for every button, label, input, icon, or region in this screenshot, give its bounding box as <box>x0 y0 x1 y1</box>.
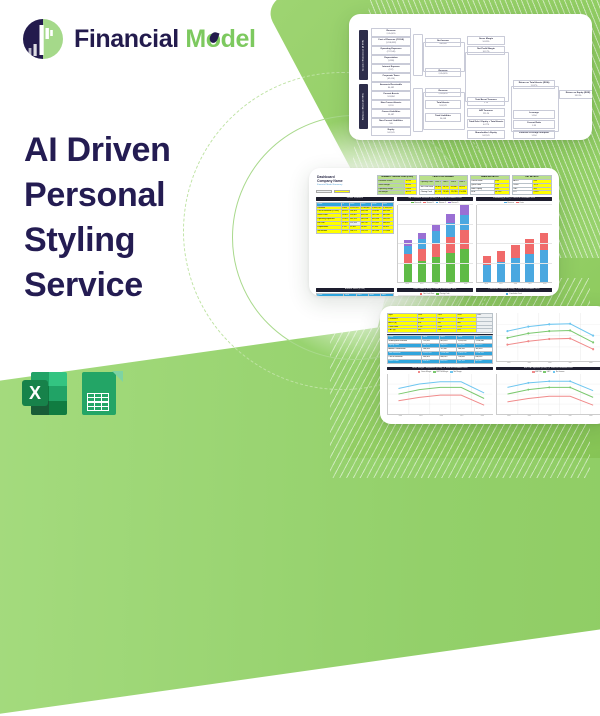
summary-table-2: FINANCIAL RATIOS Current Ratio1.83 Quick… <box>470 175 510 195</box>
assumptions-table: Input 2024 2025 2026 2027 Customers12,40… <box>387 313 493 333</box>
dashboard-header-row: Dashboard Company Name Financial Model S… <box>316 175 552 195</box>
circular-chart-logo-icon <box>22 18 64 60</box>
band-balance-sheet: Balance Sheet ($ 000) <box>359 84 368 129</box>
node-result-roe: Return on Equity (ROE)18.13% <box>559 90 592 99</box>
brand-wordmark: Financial M o del <box>74 25 256 54</box>
node-income-0: Revenue2,414,455 <box>371 28 411 37</box>
table-row: Gross Profit520,807628,233743,705865,862 <box>388 359 493 363</box>
node-balance-0: Accounts Receivable80,482 <box>371 82 411 91</box>
node-income-3: Depreciation(1,386) <box>371 55 411 64</box>
summary-table-0: SUMMARY - ASSUMPTIONS ($ 000) Revenue Gr… <box>377 175 417 195</box>
balance-sheet-table: $ 000 2024 2025 2026 2027 Assets Cash42,… <box>316 293 394 296</box>
revenue-breakdown-title: Top 5 Revenue Streams ($ 000) | 5 Years … <box>397 197 473 200</box>
excel-badge-label: X <box>22 380 48 406</box>
dashboard-toggle-2[interactable] <box>334 190 350 193</box>
bar-group <box>418 233 427 283</box>
bar-group <box>460 205 469 283</box>
dashboard-card[interactable]: Dashboard Company Name Financial Model S… <box>309 168 559 296</box>
revenue-trend-xticks: 2024 2025 2026 2027 2028 <box>496 363 600 364</box>
dupont-tree: Income Statement ($ 000) Balance Sheet (… <box>357 24 584 130</box>
headline-line-3: Styling <box>24 218 171 263</box>
margin-analysis-title: Gross Margin Comparison ($ 000) | 5 Year… <box>387 367 493 370</box>
node-ratio-4: Total Debt / Equity + Total Assets0.0774 <box>467 119 505 128</box>
bar-group <box>404 240 413 282</box>
brand-name-part2: M <box>185 25 205 54</box>
ebitda-trend-plot <box>496 374 600 415</box>
revenue-breakdown-plot <box>397 205 473 284</box>
balance-sheet-header: Balance Sheet ($ 000) <box>316 288 394 291</box>
page-title: AI Driven Personal Styling Service <box>24 128 171 308</box>
table-row: CAC ($)265258251 <box>388 329 493 333</box>
profitability-title: Profitability ($ 000) | 5 Years to Decem… <box>476 197 552 200</box>
profitability-plot <box>476 205 552 284</box>
financials-tables-cell: Input 2024 2025 2026 2027 Customers12,40… <box>387 313 493 364</box>
margin-analysis-legend: Gross Margin EBITDA Margin Net Margin <box>387 371 493 373</box>
summary-table-1: CASH FLOW SUMMARY Opening CashYear 1Year… <box>419 175 467 195</box>
node-balance-4: Non-Current Liabilities520 <box>371 118 411 127</box>
summary-table-3: KEY METRICS ARPU418 Churn3.1% CAC265 LTV… <box>512 175 552 195</box>
dashboard-subtitle: Financial Model Summary <box>316 184 374 186</box>
bar-group <box>432 224 441 283</box>
brand-name-part3: del <box>221 25 256 54</box>
income-statement-table: $ 000 % 2024 2025 2026 2027 Revenue100%1… <box>316 202 394 234</box>
income-statement-panel: Income Statement $ 000 % 2024 2025 2026 … <box>316 197 394 285</box>
bar-group <box>497 251 506 282</box>
bar-group <box>511 245 520 282</box>
profitability-panel: Profitability ($ 000) | 5 Years to Decem… <box>476 197 552 285</box>
revenue-trend-cell: 2024 2025 2026 2027 2028 <box>496 313 600 364</box>
excel-icon[interactable]: X <box>22 371 67 416</box>
connector-box-income <box>413 34 423 76</box>
revenue-breakdown-xticks: 2024 2025 2026 2027 2028 <box>397 284 473 285</box>
band-income-statement: Income Statement ($ 000) <box>359 30 368 80</box>
node-income-1: Cost of Revenue (COGS)(1,186,882) <box>371 37 411 46</box>
table-row: Net Income10.2%104,571126,121149,306173,… <box>317 229 394 233</box>
headline-line-4: Service <box>24 263 171 308</box>
profitability-xticks: 2024 2025 2026 2027 2028 <box>476 284 552 285</box>
connector-box-result <box>511 86 559 132</box>
connector-box-ratio <box>465 52 509 102</box>
node-income-5: Corporate Taxes(62,016) <box>371 73 411 82</box>
ebitda-trend-title: EBITDA Projection ($ 000) | 5 Years to D… <box>496 367 600 370</box>
margin-analysis-cell: Gross Margin Comparison ($ 000) | 5 Year… <box>387 367 493 418</box>
node-balance-5: Equity102,570 <box>371 127 411 136</box>
revenue-detail-table: $ 000 2024 2025 2026 2027 Subscription R… <box>387 335 493 363</box>
cash-flow-title: Cash / Bank ($ 000) | 5 Years to Decembe… <box>397 288 473 291</box>
node-balance-2: Non-Current Assets8,193 <box>371 100 411 109</box>
dupont-analysis-card[interactable]: Income Statement ($ 000) Balance Sheet (… <box>349 14 592 140</box>
file-format-icons: X <box>22 371 123 416</box>
dashboard-content: Dashboard Company Name Financial Model S… <box>316 175 552 289</box>
connector-box-mid-top <box>423 42 465 72</box>
table-header-row: $ 000 2024 2025 2026 2027 <box>317 293 394 296</box>
dashboard-toggle-1[interactable] <box>316 190 332 193</box>
ebitda-trend-legend: EBITDA EBIT Net Income <box>496 371 600 373</box>
margin-analysis-plot <box>387 374 493 415</box>
node-income-4: Interest Expense(137) <box>371 64 411 73</box>
brand-leaf-o: o <box>206 25 221 54</box>
connector-box-balance <box>413 88 423 132</box>
node-balance-3: Current Liabilities93,487 <box>371 109 411 118</box>
financial-projections-card[interactable]: Input 2024 2025 2026 2027 Customers12,40… <box>380 306 600 424</box>
node-balance-1: Current Assets163,884 <box>371 91 411 100</box>
google-sheets-icon[interactable] <box>78 371 123 416</box>
sheets-fold-corner-icon <box>112 371 123 382</box>
bar-group <box>446 214 455 282</box>
ebitda-trend-cell: EBITDA Projection ($ 000) | 5 Years to D… <box>496 367 600 418</box>
bar-group <box>540 233 549 282</box>
node-income-2: Operating Expenses(217,548) <box>371 46 411 55</box>
profitability-legend: Revenue Costs <box>476 202 552 204</box>
headline-line-2: Personal <box>24 173 171 218</box>
table-row: Affiliate Commission108,443127,647146,20… <box>388 348 493 352</box>
cash-flow-legend: Net Cash Flow Closing Cash <box>397 293 473 295</box>
node-ratio-3: A/R Turnover229.24 <box>467 108 505 117</box>
sheets-grid-icon <box>87 393 109 411</box>
connector-box-mid-bottom <box>423 92 465 130</box>
margin-analysis-xticks: 2024 2025 2026 2027 2028 <box>387 416 493 417</box>
revenue-breakdown-legend: Stream A Stream B Stream C Stream D <box>397 202 473 204</box>
revenue-breakdown-panel: Top 5 Revenue Streams ($ 000) | 5 Years … <box>397 197 473 285</box>
headline-line-1: AI Driven <box>24 128 171 173</box>
revenue-trend-plot <box>496 313 600 362</box>
cumulative-cash-legend: Cumulative Cash <box>476 293 552 295</box>
table-row: Subscription Revenue712,455861,9201,024,… <box>388 340 493 344</box>
cumulative-cash-panel: Cumulative Cashflow ($ 000) | 5 Years to… <box>476 288 552 296</box>
brand-name-part1: Financial <box>74 25 179 54</box>
income-statement-header: Income Statement <box>316 197 394 200</box>
cumulative-cash-title: Cumulative Cashflow ($ 000) | 5 Years to… <box>476 288 552 291</box>
brand-logo: Financial M o del <box>22 18 256 60</box>
cash-flow-panel: Cash / Bank ($ 000) | 5 Years to Decembe… <box>397 288 473 296</box>
financials-content: Input 2024 2025 2026 2027 Customers12,40… <box>387 313 600 417</box>
ebitda-trend-xticks: 2024 2025 2026 2027 2028 <box>496 416 600 417</box>
dashboard-panels: Income Statement $ 000 % 2024 2025 2026 … <box>316 197 552 296</box>
node-ratio-0: Gross Margin50.83% <box>467 36 505 45</box>
balance-sheet-panel: Balance Sheet ($ 000) $ 000 2024 2025 20… <box>316 288 394 296</box>
bar-group <box>525 239 534 282</box>
bar-group <box>483 256 492 282</box>
node-ratio-5: Shareholder's Equity102,570 <box>467 130 505 139</box>
